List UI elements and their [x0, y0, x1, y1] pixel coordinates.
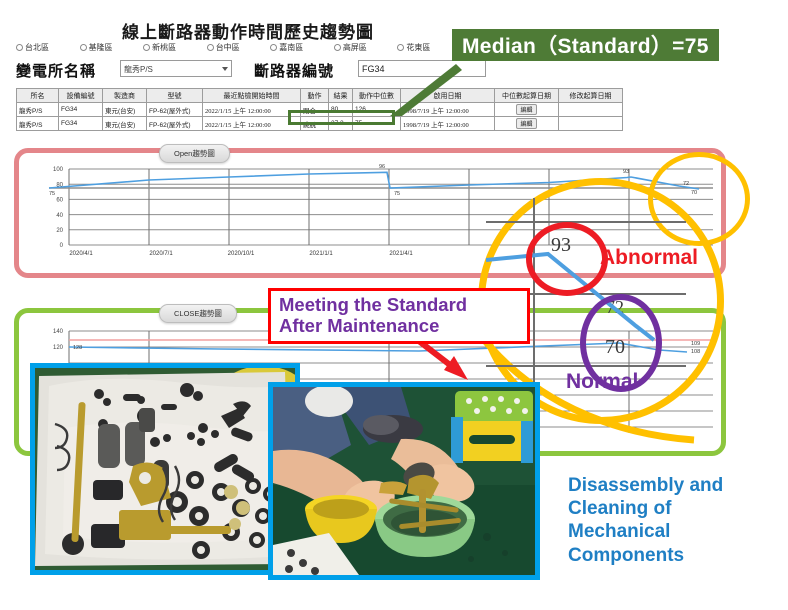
svg-text:2021/1/1: 2021/1/1 [309, 251, 333, 257]
edit-button[interactable]: 編輯 [516, 104, 536, 115]
cell-last-check-time: 2022/1/15 上午 12:00:00 [203, 103, 301, 117]
svg-text:20: 20 [56, 228, 63, 234]
breaker-number-value: FG34 [362, 64, 385, 74]
cell-modify-start-date [559, 103, 623, 117]
substation-select[interactable]: 龍秀P/S [120, 60, 232, 77]
svg-text:80: 80 [56, 182, 63, 188]
page-title: 線上斷路器動作時間歷史趨勢圖 [98, 18, 398, 43]
cell-median-start-date[interactable]: 編輯 [495, 117, 559, 131]
cell-in-service-date: 1998/7/19 上午 12:00:00 [401, 103, 495, 117]
svg-text:120: 120 [53, 345, 64, 351]
parts-photo-content [35, 368, 295, 570]
svg-text:0: 0 [60, 243, 64, 249]
caption-line3: Mechanical [568, 520, 782, 543]
radio-icon [334, 44, 341, 51]
edit-button[interactable]: 編輯 [516, 118, 536, 129]
caption-line4: Components [568, 544, 782, 567]
open-chart-tab[interactable]: Open趨勢圖 [159, 144, 230, 163]
col-modify-start-date: 修改起算日期 [559, 89, 623, 103]
svg-text:2021/4/1: 2021/4/1 [389, 251, 413, 257]
col-manufacturer: 製造商 [103, 89, 147, 103]
svg-text:108: 108 [691, 349, 700, 355]
radio-icon [270, 44, 277, 51]
col-equip-id: 設備編號 [59, 89, 103, 103]
svg-text:40: 40 [56, 213, 63, 219]
cell-median-start-date[interactable]: 編輯 [495, 103, 559, 117]
region-radio-jianan[interactable]: 嘉南區 [270, 42, 303, 53]
breaker-number-input[interactable]: FG34 [358, 60, 486, 77]
cell-name: 龍秀P/S [17, 117, 59, 131]
breaker-label: 斷路器編號 [254, 60, 334, 81]
substation-select-value: 龍秀P/S [124, 65, 153, 74]
cell-last-check-time: 2022/1/15 上午 12:00:00 [203, 117, 301, 131]
radio-icon [143, 44, 150, 51]
svg-text:2020/10/1: 2020/10/1 [228, 251, 255, 257]
region-radio-kaoping[interactable]: 高屏區 [334, 42, 367, 53]
maintenance-callout-line2: After Maintenance [279, 316, 527, 337]
substation-label: 變電所名稱 [16, 60, 96, 81]
region-radio-xintao[interactable]: 新桃區 [143, 42, 176, 53]
cell-equip-id: FG34 [59, 117, 103, 131]
cleaning-photo [268, 382, 540, 580]
region-label: 嘉南區 [279, 42, 303, 53]
caption-line2: Cleaning of [568, 497, 782, 520]
svg-text:93: 93 [623, 169, 629, 175]
close-chart-tab[interactable]: CLOSE趨勢圖 [159, 304, 237, 323]
region-label: 高屏區 [343, 42, 367, 53]
region-label: 新桃區 [152, 42, 176, 53]
region-radio-taichung[interactable]: 台中區 [207, 42, 240, 53]
table-header-row: 所名 設備編號 製造商 型號 最近點檢開始時間 動作 結果 動作中位數 啟用日期… [17, 89, 623, 103]
cell-modify-start-date [559, 117, 623, 131]
col-action: 動作 [301, 89, 329, 103]
open-chart-svg: 100 80 60 40 20 0 75 96 75 93 72 70 2020… [19, 153, 721, 273]
median-standard-banner: Median（Standard）=75 [452, 29, 719, 61]
svg-text:72: 72 [683, 181, 689, 187]
radio-icon [207, 44, 214, 51]
col-last-check-time: 最近點檢開始時間 [203, 89, 301, 103]
svg-text:96: 96 [379, 164, 385, 170]
svg-text:2020/7/1: 2020/7/1 [149, 251, 173, 257]
col-in-service-date: 啟用日期 [401, 89, 495, 103]
caption-line1: Disassembly and [568, 474, 782, 497]
cell-manufacturer: 東元(台安) [103, 103, 147, 117]
col-result: 結果 [329, 89, 353, 103]
cell-manufacturer: 東元(台安) [103, 117, 147, 131]
disassembled-parts-photo [30, 363, 300, 575]
region-radio-group[interactable]: 台北區 基隆區 新桃區 台中區 嘉南區 高屏區 花東區 全區 [16, 42, 486, 53]
svg-text:75: 75 [394, 191, 400, 197]
col-action-median: 動作中位數 [353, 89, 401, 103]
radio-icon [80, 44, 87, 51]
region-radio-taipei[interactable]: 台北區 [16, 42, 49, 53]
col-median-start-date: 中位數起算日期 [495, 89, 559, 103]
svg-text:100: 100 [53, 167, 64, 173]
col-model: 型號 [147, 89, 203, 103]
col-name: 所名 [17, 89, 59, 103]
region-radio-huadong[interactable]: 花東區 [397, 42, 430, 53]
radio-icon [16, 44, 23, 51]
region-radio-keelung[interactable]: 基隆區 [80, 42, 113, 53]
cell-model: FP-62(屋外式) [147, 103, 203, 117]
svg-text:2020/4/1: 2020/4/1 [69, 251, 93, 257]
region-label: 花東區 [406, 42, 430, 53]
cell-name: 龍秀P/S [17, 103, 59, 117]
region-label: 基隆區 [89, 42, 113, 53]
svg-text:140: 140 [53, 329, 64, 335]
open-trend-panel: 100 80 60 40 20 0 75 96 75 93 72 70 2020… [14, 148, 726, 278]
svg-text:128: 128 [73, 345, 82, 351]
svg-text:60: 60 [56, 198, 63, 204]
cell-equip-id: FG34 [59, 103, 103, 117]
maintenance-callout: Meeting the Standard After Maintenance [268, 288, 530, 344]
region-label: 台中區 [216, 42, 240, 53]
svg-text:75: 75 [49, 191, 55, 197]
photos-caption: Disassembly and Cleaning of Mechanical C… [568, 474, 782, 567]
radio-icon [397, 44, 404, 51]
open-chart: 100 80 60 40 20 0 75 96 75 93 72 70 2020… [19, 153, 721, 273]
cell-model: FP-62(屋外式) [147, 117, 203, 131]
svg-text:109: 109 [691, 341, 700, 347]
filter-form: 變電所名稱 龍秀P/S 斷路器編號 FG34 [16, 58, 476, 80]
maintenance-callout-line1: Meeting the Standard [279, 295, 527, 316]
cell-in-service-date: 1998/7/19 上午 12:00:00 [401, 117, 495, 131]
svg-text:70: 70 [691, 190, 697, 196]
region-label: 台北區 [25, 42, 49, 53]
median-highlight-box [288, 110, 395, 125]
cleaning-photo-content [273, 387, 535, 575]
chevron-down-icon [222, 67, 228, 71]
